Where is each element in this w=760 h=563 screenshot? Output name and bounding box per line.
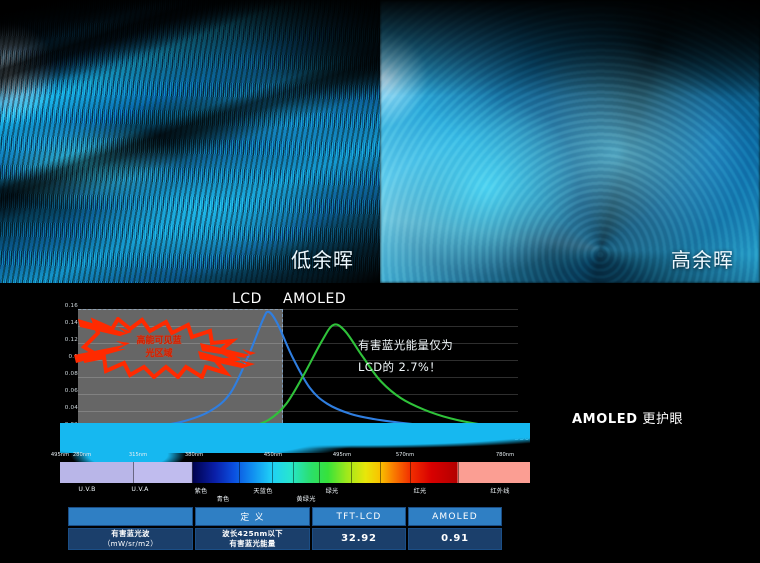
table-header-blank <box>68 507 193 526</box>
table-cell-amoled-value: 0.91 <box>408 528 502 550</box>
spectrum-band-names: U.V.B U.V.A 紫色 天蓝色 青色 绿光 黄绿光 红光 红外线 <box>60 483 530 501</box>
spectrum-nm-1: 315nm <box>129 452 147 458</box>
table-header-row: 定 义 TFT-LCD AMOLED <box>68 507 502 526</box>
photo-corner-vignette <box>608 0 760 102</box>
y-tick-0: 0.16 <box>65 303 78 309</box>
blue-light-comparison-table: 定 义 TFT-LCD AMOLED 有害蓝光波 （mW/sr/m2） 波长42… <box>66 505 504 552</box>
arrow-shapes <box>60 315 260 385</box>
table-row: 有害蓝光波 （mW/sr/m2） 波长425nm以下 有害蓝光能量 32.92 … <box>68 528 502 550</box>
table-header-definition: 定 义 <box>195 507 310 526</box>
spectrum-band-green: 绿光 <box>326 486 339 495</box>
table-cell-metric: 有害蓝光波 （mW/sr/m2） <box>68 528 193 550</box>
spectrum-tick <box>133 462 134 483</box>
slogan-text: 更护眼 <box>638 412 684 427</box>
spectrum-nm-2: 380nm <box>185 452 203 458</box>
photo-caption-high-afterglow: 高余晖 <box>671 244 734 273</box>
table-header-tft-lcd: TFT-LCD <box>312 507 406 526</box>
metric-name: 有害蓝光波 <box>69 529 192 539</box>
spectrum-band-skyblue: 天蓝色 <box>253 486 272 495</box>
legend-label-lcd: LCD <box>232 291 262 307</box>
spectrum-wavelength-labels: 280nm 315nm 380nm 450nm 495nm 495nm 570n… <box>60 452 530 462</box>
photo-caption-low-afterglow: 低余晖 <box>291 244 354 273</box>
legend-label-amoled: AMOLED <box>283 291 346 307</box>
spectrum-tick <box>380 462 381 483</box>
spectrum-nm-5: 570nm <box>396 452 414 458</box>
y-tick-5: 0.06 <box>65 388 78 394</box>
note-line-1: 有害蓝光能量仅为 <box>358 335 538 357</box>
spectrum-band-yellowgreen: 黄绿光 <box>296 494 315 503</box>
spectrum-nm-4: 495nm <box>51 452 69 458</box>
visible-spectrum-bar: 280nm 315nm 380nm 450nm 495nm 495nm 570n… <box>60 452 530 502</box>
spectrum-gradient-bar <box>60 462 530 483</box>
spectrum-band-purple: 紫色 <box>195 486 208 495</box>
spectrum-tick <box>272 462 273 483</box>
y-tick-6: 0.04 <box>65 405 78 411</box>
slogan-brand: AMOLED <box>572 412 638 427</box>
comparison-photo-pair: 低余晖 高余晖 <box>0 0 760 283</box>
spectrum-band-uva: U.V.A <box>131 486 148 493</box>
amoled-slogan: AMOLED 更护眼 <box>572 408 683 427</box>
spectrum-nm-4b: 495nm <box>333 452 351 458</box>
definition-line-2: 有害蓝光能量 <box>196 539 309 549</box>
spectrum-tick <box>293 462 294 483</box>
spectrum-band-red: 红光 <box>414 486 427 495</box>
note-line-2: LCD的 2.7%！ <box>358 357 538 379</box>
spectrum-nm-3: 450nm <box>264 452 282 458</box>
spectrum-band-cyan: 青色 <box>217 494 230 503</box>
starburst-arrows <box>60 315 260 385</box>
cyan-glow-band <box>60 423 530 453</box>
definition-line-1: 波长425nm以下 <box>196 529 309 539</box>
spectrum-band-infrared: 红外线 <box>490 486 509 495</box>
spectrum-nm-0: 280nm <box>73 452 91 458</box>
photo-high-afterglow: 高余晖 <box>380 0 760 283</box>
photo-corner-vignette <box>228 0 380 102</box>
spectrum-tick <box>239 462 240 483</box>
spectrum-tick <box>192 462 193 483</box>
metric-unit: （mW/sr/m2） <box>69 539 192 549</box>
spectrum-nm-6: 780nm <box>496 452 514 458</box>
spectrum-tick <box>351 462 352 483</box>
spectrum-tick <box>319 462 320 483</box>
harmful-blue-light-note: 有害蓝光能量仅为 LCD的 2.7%！ <box>358 335 538 379</box>
table-header-amoled: AMOLED <box>408 507 502 526</box>
table-cell-lcd-value: 32.92 <box>312 528 406 550</box>
chart-legend: LCD AMOLED <box>0 291 545 311</box>
photo-low-afterglow: 低余晖 <box>0 0 380 283</box>
spectrum-tick <box>458 462 459 483</box>
table-cell-definition: 波长425nm以下 有害蓝光能量 <box>195 528 310 550</box>
spectrum-tick <box>410 462 411 483</box>
spectrum-band-uvb: U.V.B <box>78 486 95 493</box>
